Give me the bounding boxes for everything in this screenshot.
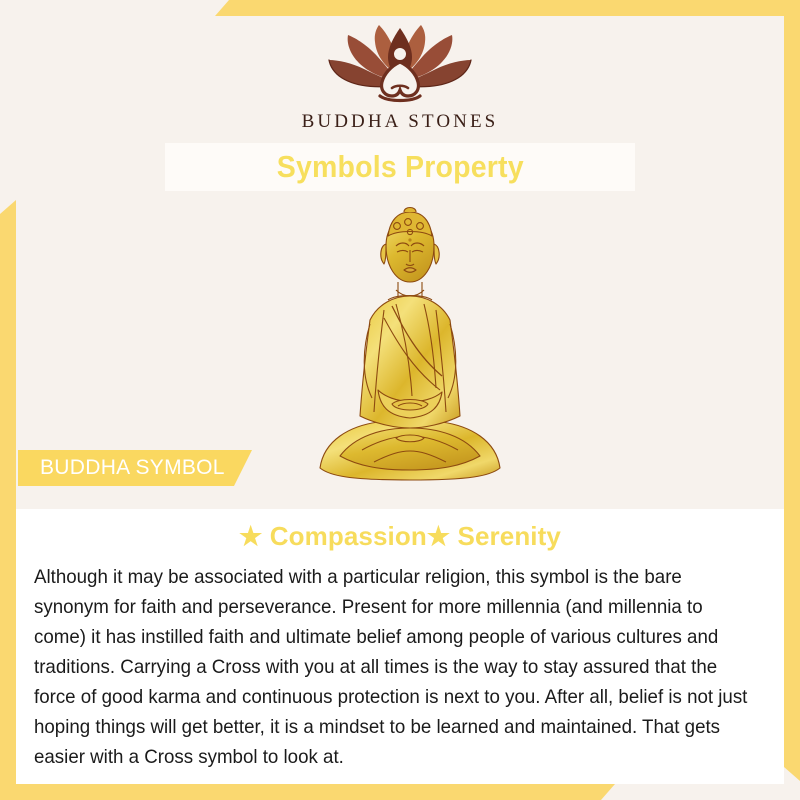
golden-seated-buddha-illustration: [300, 200, 520, 500]
title-banner: Symbols Property: [165, 143, 635, 191]
ribbon-label: BUDDHA SYMBOL: [18, 456, 225, 480]
hero-image: [300, 200, 520, 500]
buddha-symbol-ribbon: BUDDHA SYMBOL: [18, 450, 252, 486]
content-subtitle: ★ Compassion★ Serenity: [34, 521, 766, 552]
content-card: ★ Compassion★ Serenity Although it may b…: [16, 509, 784, 784]
decorative-band-top: [215, 0, 800, 16]
brand-name: BUDDHA STONES: [302, 111, 499, 133]
page-title: Symbols Property: [276, 149, 523, 185]
decorative-band-bottom: [0, 784, 615, 800]
lotus-meditation-figure-icon: [312, 22, 488, 106]
content-paragraph: Although it may be associated with a par…: [34, 563, 748, 773]
brand-logo: BUDDHA STONES: [0, 22, 800, 133]
decorative-band-left: [0, 200, 16, 800]
